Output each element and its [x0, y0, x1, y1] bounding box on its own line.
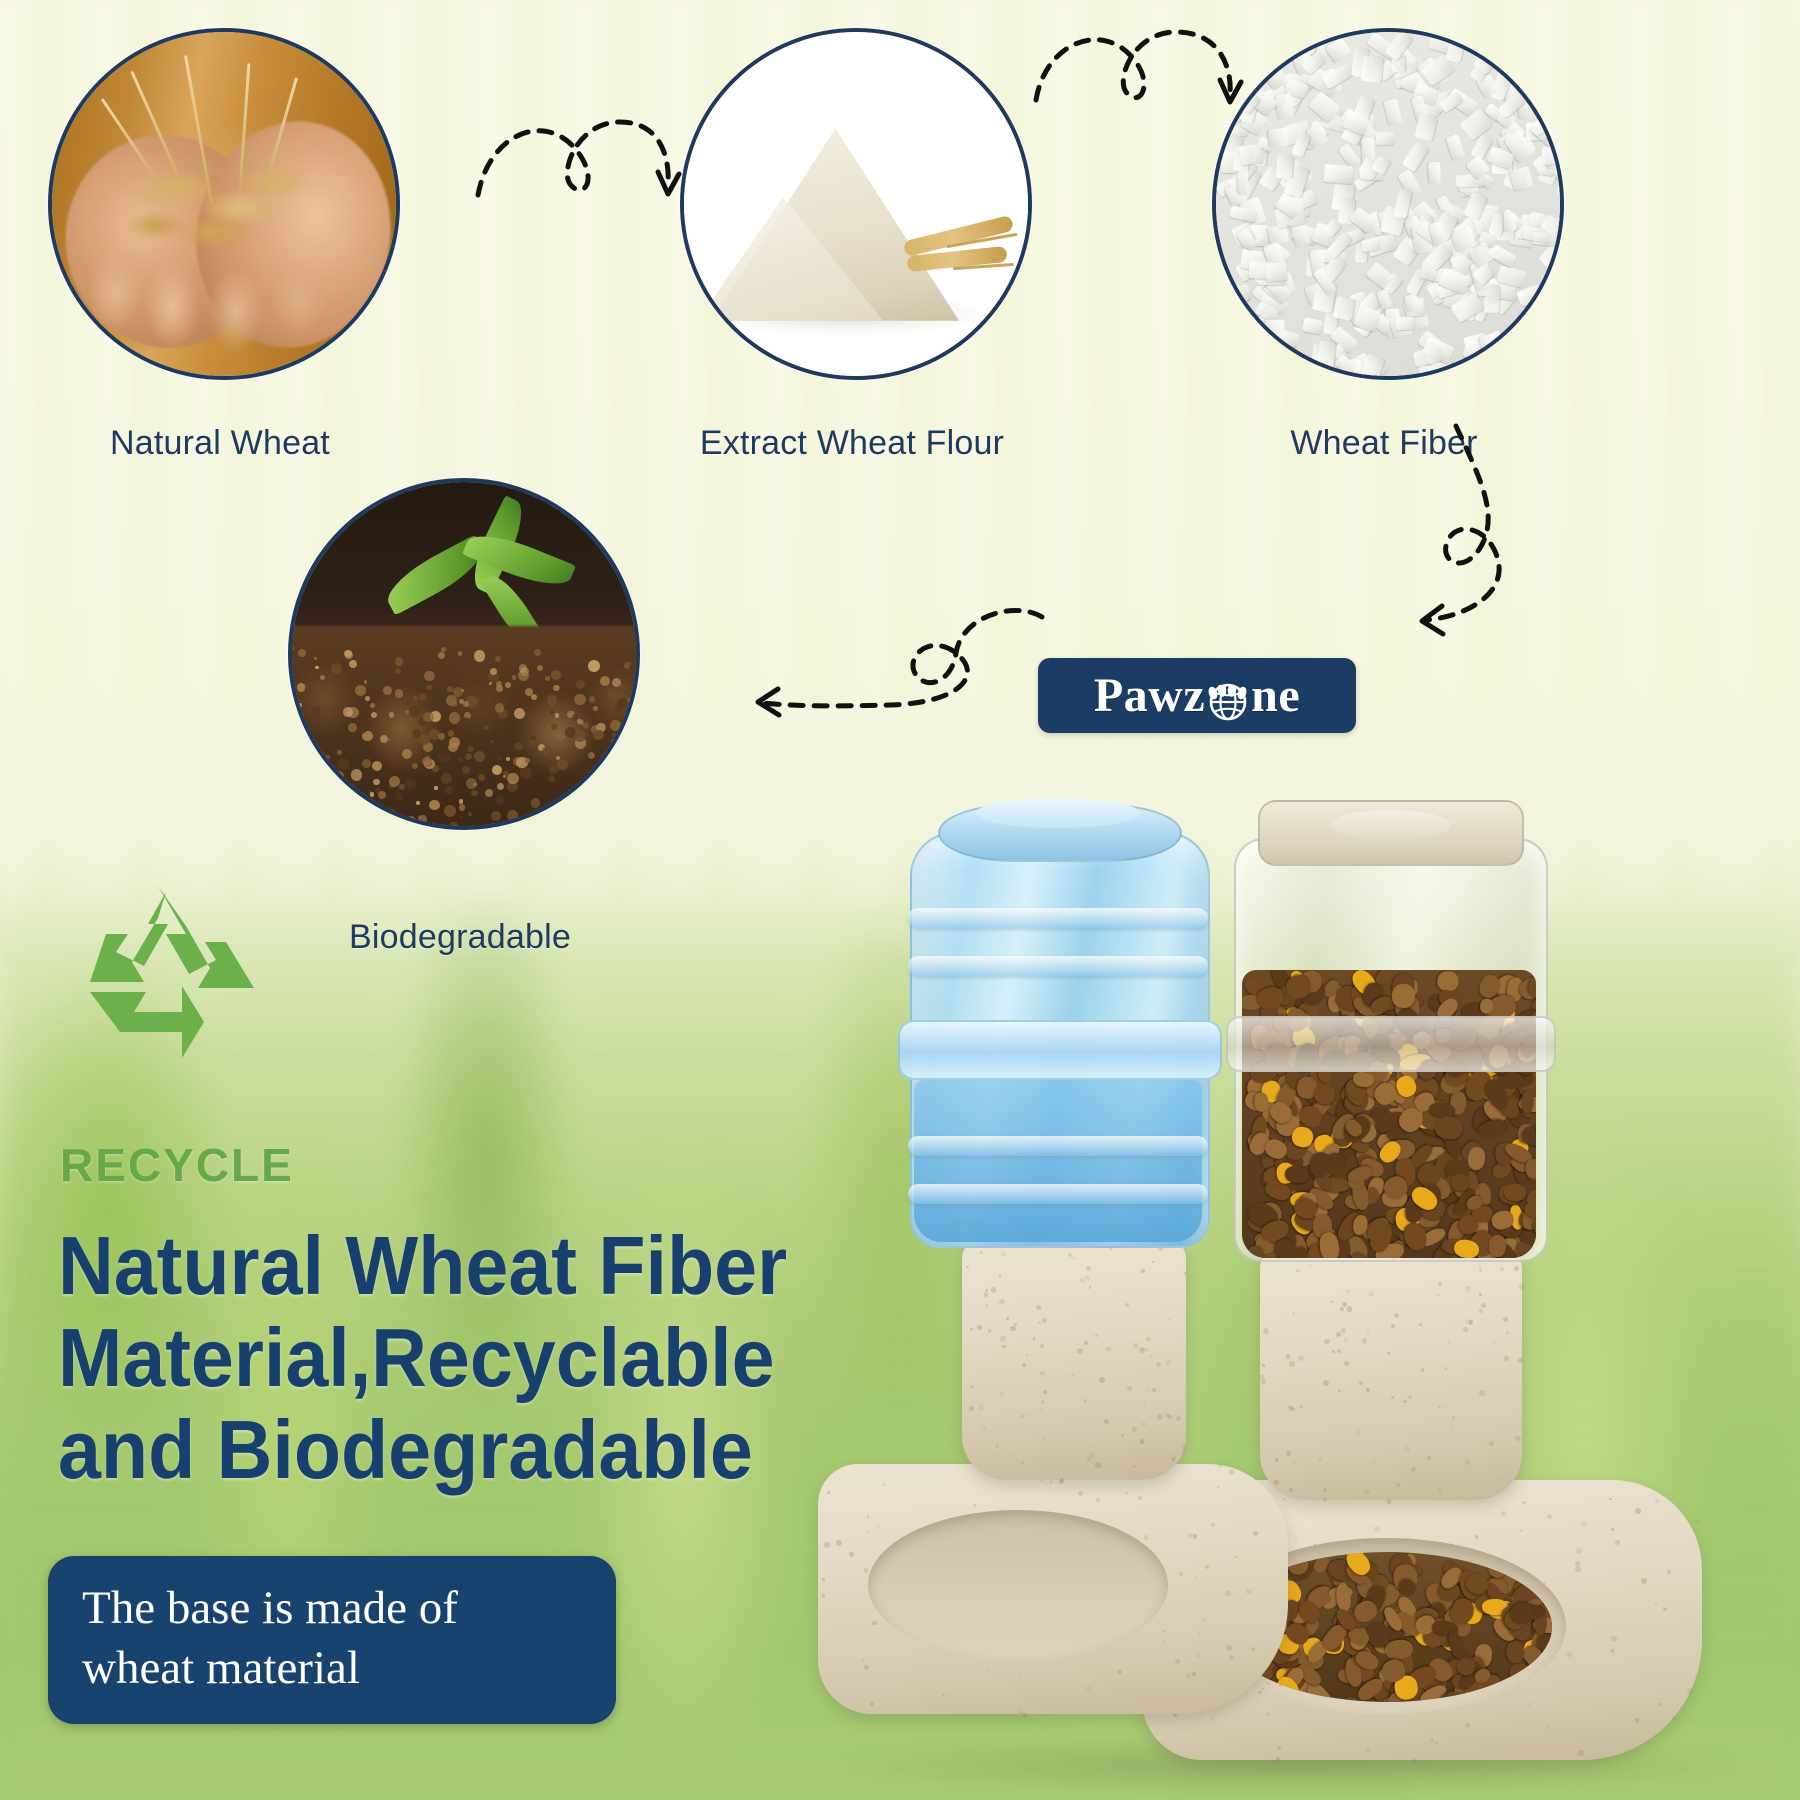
water-fill-level: [914, 1080, 1202, 1242]
food-container-band: [1226, 1016, 1556, 1072]
pawzone-logo[interactable]: Pawz ne: [1038, 658, 1356, 733]
wheat-flour-pile-photo: [684, 32, 1028, 376]
water-ring-2: [908, 956, 1208, 976]
seedling-in-soil-photo: [292, 482, 636, 826]
step-label-biodegradable: Biodegradable: [288, 918, 632, 957]
infographic-canvas: Natural Wheat Extract Wheat Flour Wheat …: [0, 0, 1800, 1800]
step-image-biodegradable: [288, 478, 640, 830]
arrow-fiber-to-logo: [1330, 420, 1550, 650]
badge-line-1: The base is made of: [82, 1578, 582, 1638]
recycle-label: RECYCLE: [60, 1138, 294, 1192]
globe-icon: [1206, 678, 1250, 722]
water-ring-3: [908, 1136, 1208, 1156]
wheat-ears-decoration: [842, 197, 1021, 314]
arrow-wheat-to-flour: [470, 100, 700, 220]
water-ring-1: [908, 908, 1208, 928]
pawzone-logo-wordmark: Pawz ne: [1094, 668, 1300, 723]
hands-holding-wheat-photo: [52, 32, 396, 376]
step-image-natural-wheat: [48, 28, 400, 380]
plastic-pellets-photo: [1216, 32, 1560, 376]
recycle-icon: [70, 880, 270, 1070]
logo-text-ne: ne: [1251, 668, 1300, 723]
arrow-flour-to-fiber: [1030, 14, 1260, 134]
status-badge: The base is made of wheat material: [48, 1556, 616, 1724]
step-label-extract-wheat-flour: Extract Wheat Flour: [660, 424, 1044, 463]
kibble-fill: [1242, 970, 1536, 1258]
water-container-band: [898, 1020, 1222, 1080]
paw-print-icon: [1207, 662, 1249, 682]
paw-print-icon-svg: [1207, 685, 1249, 705]
food-lid-knob: [1330, 810, 1450, 840]
step-image-extract-wheat-flour: [680, 28, 1032, 380]
water-base-neck: [962, 1240, 1186, 1480]
logo-text-paw: Paw: [1094, 668, 1183, 723]
step-image-wheat-fiber: [1212, 28, 1564, 380]
step-label-natural-wheat: Natural Wheat: [48, 424, 392, 463]
arrow-logo-to-biodegradable: [740, 595, 1050, 725]
badge-line-2: wheat material: [82, 1638, 582, 1698]
water-ring-4: [908, 1184, 1208, 1204]
water-bowl-well: [868, 1510, 1168, 1660]
product-image: [790, 780, 1790, 1790]
recycle-icon-svg: [70, 880, 270, 1070]
food-base-neck: [1260, 1250, 1522, 1500]
water-lid-cap: [976, 798, 1140, 828]
